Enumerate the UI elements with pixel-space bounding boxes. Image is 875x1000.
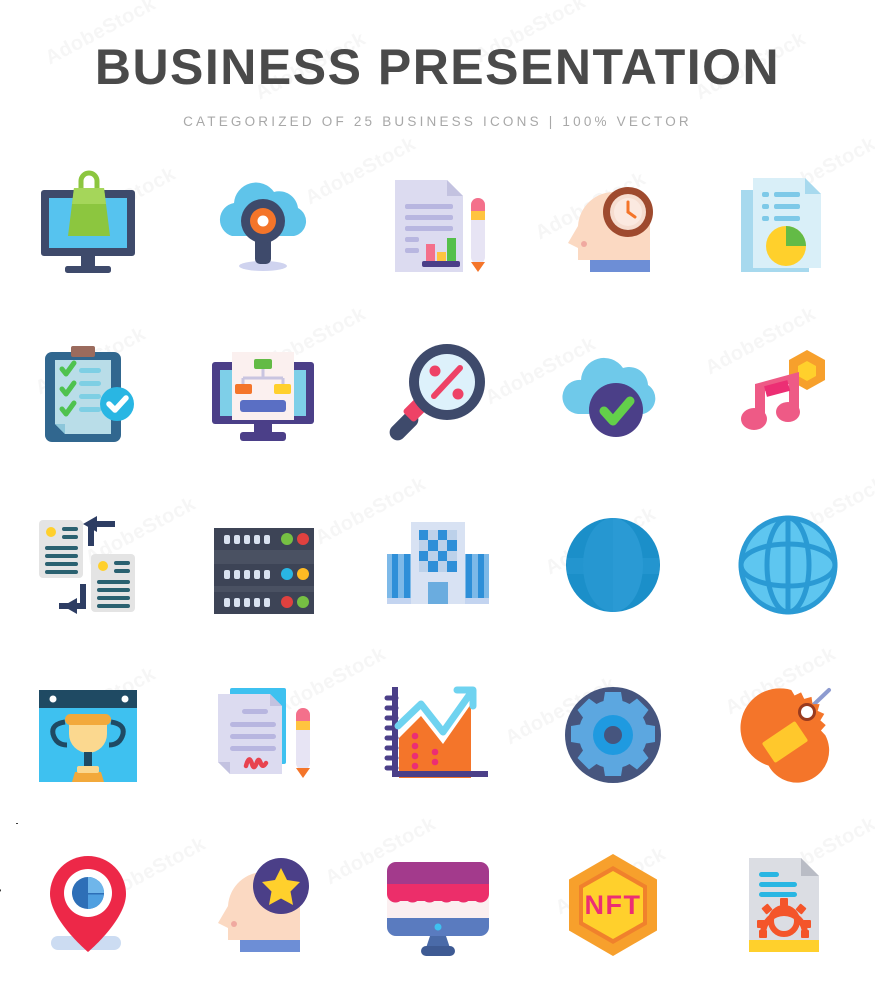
page-subtitle: CATEGORIZED OF 25 BUSINESS ICONS | 100% … bbox=[0, 92, 875, 129]
location-pin-globe-icon bbox=[29, 846, 147, 964]
settings-gear-icon bbox=[554, 676, 672, 794]
icon-cell-server-rack[interactable] bbox=[175, 480, 350, 650]
globe-solid-icon bbox=[554, 506, 672, 624]
report-document-pencil-icon bbox=[379, 166, 497, 284]
globe-wire-icon bbox=[729, 506, 847, 624]
icon-cell-document-settings[interactable] bbox=[700, 820, 875, 990]
icon-cell-online-store-monitor[interactable] bbox=[350, 820, 525, 990]
sheet-header: BUSINESS PRESENTATION CATEGORIZED OF 25 … bbox=[0, 0, 875, 129]
icon-cell-trophy-browser[interactable] bbox=[0, 650, 175, 820]
icon-cell-globe-wire[interactable] bbox=[700, 480, 875, 650]
icon-cell-file-transfer[interactable] bbox=[0, 480, 175, 650]
online-store-monitor-icon bbox=[379, 846, 497, 964]
trophy-browser-icon bbox=[29, 676, 147, 794]
cloud-verified-icon bbox=[554, 336, 672, 454]
star-mind-head-icon bbox=[204, 846, 322, 964]
presentation-monitor-icon bbox=[204, 336, 322, 454]
page-title: BUSINESS PRESENTATION bbox=[0, 0, 875, 92]
icon-cell-settings-gear[interactable] bbox=[525, 650, 700, 820]
icon-grid: NFT bbox=[0, 140, 875, 1000]
contract-signature-icon bbox=[204, 676, 322, 794]
icon-cell-price-tag[interactable] bbox=[700, 650, 875, 820]
online-shopping-monitor-icon bbox=[29, 166, 147, 284]
icon-cell-cloud-webcam[interactable] bbox=[175, 140, 350, 310]
icon-cell-growth-chart[interactable] bbox=[350, 650, 525, 820]
nft-hexagon-badge-icon: NFT bbox=[554, 846, 672, 964]
price-tag-icon bbox=[729, 676, 847, 794]
icon-cell-nft-hexagon-badge[interactable]: NFT bbox=[525, 820, 700, 990]
server-rack-icon bbox=[204, 506, 322, 624]
icon-cell-nft-music[interactable] bbox=[700, 310, 875, 480]
icon-cell-location-pin-globe[interactable] bbox=[0, 820, 175, 990]
time-management-head-icon bbox=[554, 166, 672, 284]
icon-cell-online-shopping-monitor[interactable] bbox=[0, 140, 175, 310]
growth-chart-icon bbox=[379, 676, 497, 794]
checklist-clipboard-icon bbox=[29, 336, 147, 454]
icon-cell-presentation-monitor[interactable] bbox=[175, 310, 350, 480]
cloud-webcam-icon bbox=[204, 166, 322, 284]
icon-cell-contract-signature[interactable] bbox=[175, 650, 350, 820]
nft-music-icon bbox=[729, 336, 847, 454]
file-transfer-icon bbox=[29, 506, 147, 624]
office-building-icon bbox=[379, 506, 497, 624]
icon-cell-report-document-pencil[interactable] bbox=[350, 140, 525, 310]
icon-cell-pie-chart-report[interactable] bbox=[700, 140, 875, 310]
icon-cell-globe-solid[interactable] bbox=[525, 480, 700, 650]
icon-cell-checklist-clipboard[interactable] bbox=[0, 310, 175, 480]
icon-cell-time-management-head[interactable] bbox=[525, 140, 700, 310]
icon-cell-discount-search[interactable] bbox=[350, 310, 525, 480]
nft-badge-text: NFT bbox=[584, 890, 641, 920]
document-settings-icon bbox=[729, 846, 847, 964]
icon-cell-star-mind-head[interactable] bbox=[175, 820, 350, 990]
icon-cell-cloud-verified[interactable] bbox=[525, 310, 700, 480]
pie-chart-report-icon bbox=[729, 166, 847, 284]
icon-sheet-page: AdobeStock AdobeStock AdobeStock AdobeSt… bbox=[0, 0, 875, 1000]
discount-search-icon bbox=[379, 336, 497, 454]
icon-cell-office-building[interactable] bbox=[350, 480, 525, 650]
